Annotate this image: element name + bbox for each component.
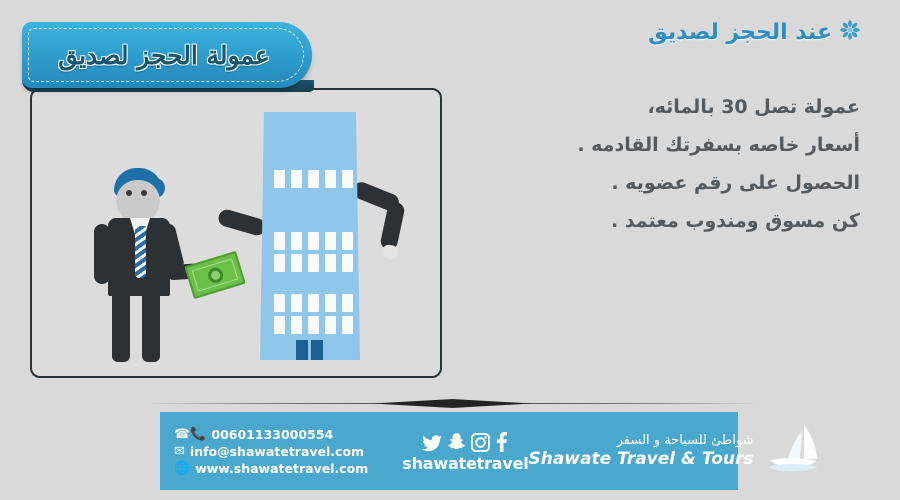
facebook-icon[interactable] <box>496 432 508 452</box>
eye-left <box>126 190 132 196</box>
window-row <box>274 316 353 334</box>
divider-dot <box>440 400 447 407</box>
building-arm-left <box>217 208 268 238</box>
phone-whatsapp-icon: ☎📞 <box>174 428 206 441</box>
list-item: أسعار خاصه بسفرتك القادمه . <box>478 126 860 164</box>
leg-right <box>142 292 160 362</box>
twitter-icon[interactable] <box>422 435 442 452</box>
contact-email[interactable]: ✉ info@shawatetravel.com <box>174 443 368 460</box>
page-title-text: عند الحجز لصديق <box>648 18 832 48</box>
list-item: الحصول على رقم عضويه . <box>478 164 860 202</box>
content-panel: عند الحجز لصديق عمولة تصل 30 بالمائه، أس… <box>470 0 900 400</box>
page-title: عند الحجز لصديق <box>470 18 860 48</box>
leg-left <box>112 292 130 362</box>
sailboat-icon <box>764 423 828 479</box>
social-handle: shawatetravel <box>402 454 528 473</box>
footer-bar: ☎📞 00601133000554 ✉ info@shawatetravel.c… <box>160 412 738 490</box>
banknote-seal <box>206 266 225 285</box>
hotel-building-icon <box>260 112 360 360</box>
logo-arabic: شواطئ للسياحة و السفر <box>529 433 754 449</box>
list-item: كن مسوق ومندوب معتمد . <box>478 202 860 240</box>
illustration-panel: عمولة الحجز لصديق <box>0 0 470 400</box>
benefits-list: عمولة تصل 30 بالمائه، أسعار خاصه بسفرتك … <box>470 88 860 240</box>
illustration-card <box>30 88 442 378</box>
contact-website[interactable]: 🌐 www.shawatetravel.com <box>174 460 368 477</box>
building-door <box>296 340 323 360</box>
contact-phone[interactable]: ☎📞 00601133000554 <box>174 426 368 443</box>
divider-dot <box>458 400 465 407</box>
window-row <box>274 232 353 250</box>
arm-left <box>94 224 110 284</box>
building-hand-right <box>381 243 400 260</box>
snapchat-icon[interactable] <box>448 433 465 452</box>
window-row <box>274 170 353 188</box>
phone-number: 00601133000554 <box>211 426 333 443</box>
social-block: shawatetravel <box>402 430 528 473</box>
divider-dot <box>449 400 456 407</box>
logo-english: Shawate Travel & Tours <box>529 449 754 469</box>
window-row <box>274 294 353 312</box>
email-address: info@shawatetravel.com <box>190 443 364 460</box>
banner-ribbon: عمولة الحجز لصديق <box>22 22 312 88</box>
asterisk-flower-icon <box>840 20 860 46</box>
striped-tie-shape <box>135 226 146 278</box>
list-item: عمولة تصل 30 بالمائه، <box>478 88 860 126</box>
company-logo: شواطئ للسياحة و السفر Shawate Travel & T… <box>529 423 844 479</box>
window-row <box>274 254 353 272</box>
banner-title: عمولة الحجز لصديق <box>22 22 312 88</box>
social-icons <box>402 430 528 452</box>
envelope-icon: ✉ <box>174 445 185 458</box>
eye-right <box>141 190 147 196</box>
globe-icon: 🌐 <box>174 462 190 475</box>
website-url: www.shawatetravel.com <box>195 460 368 477</box>
logo-text: شواطئ للسياحة و السفر Shawate Travel & T… <box>529 433 754 469</box>
contact-block: ☎📞 00601133000554 ✉ info@shawatetravel.c… <box>160 426 368 477</box>
instagram-icon[interactable] <box>471 433 490 452</box>
legs <box>110 292 168 362</box>
head-shape <box>116 180 160 222</box>
